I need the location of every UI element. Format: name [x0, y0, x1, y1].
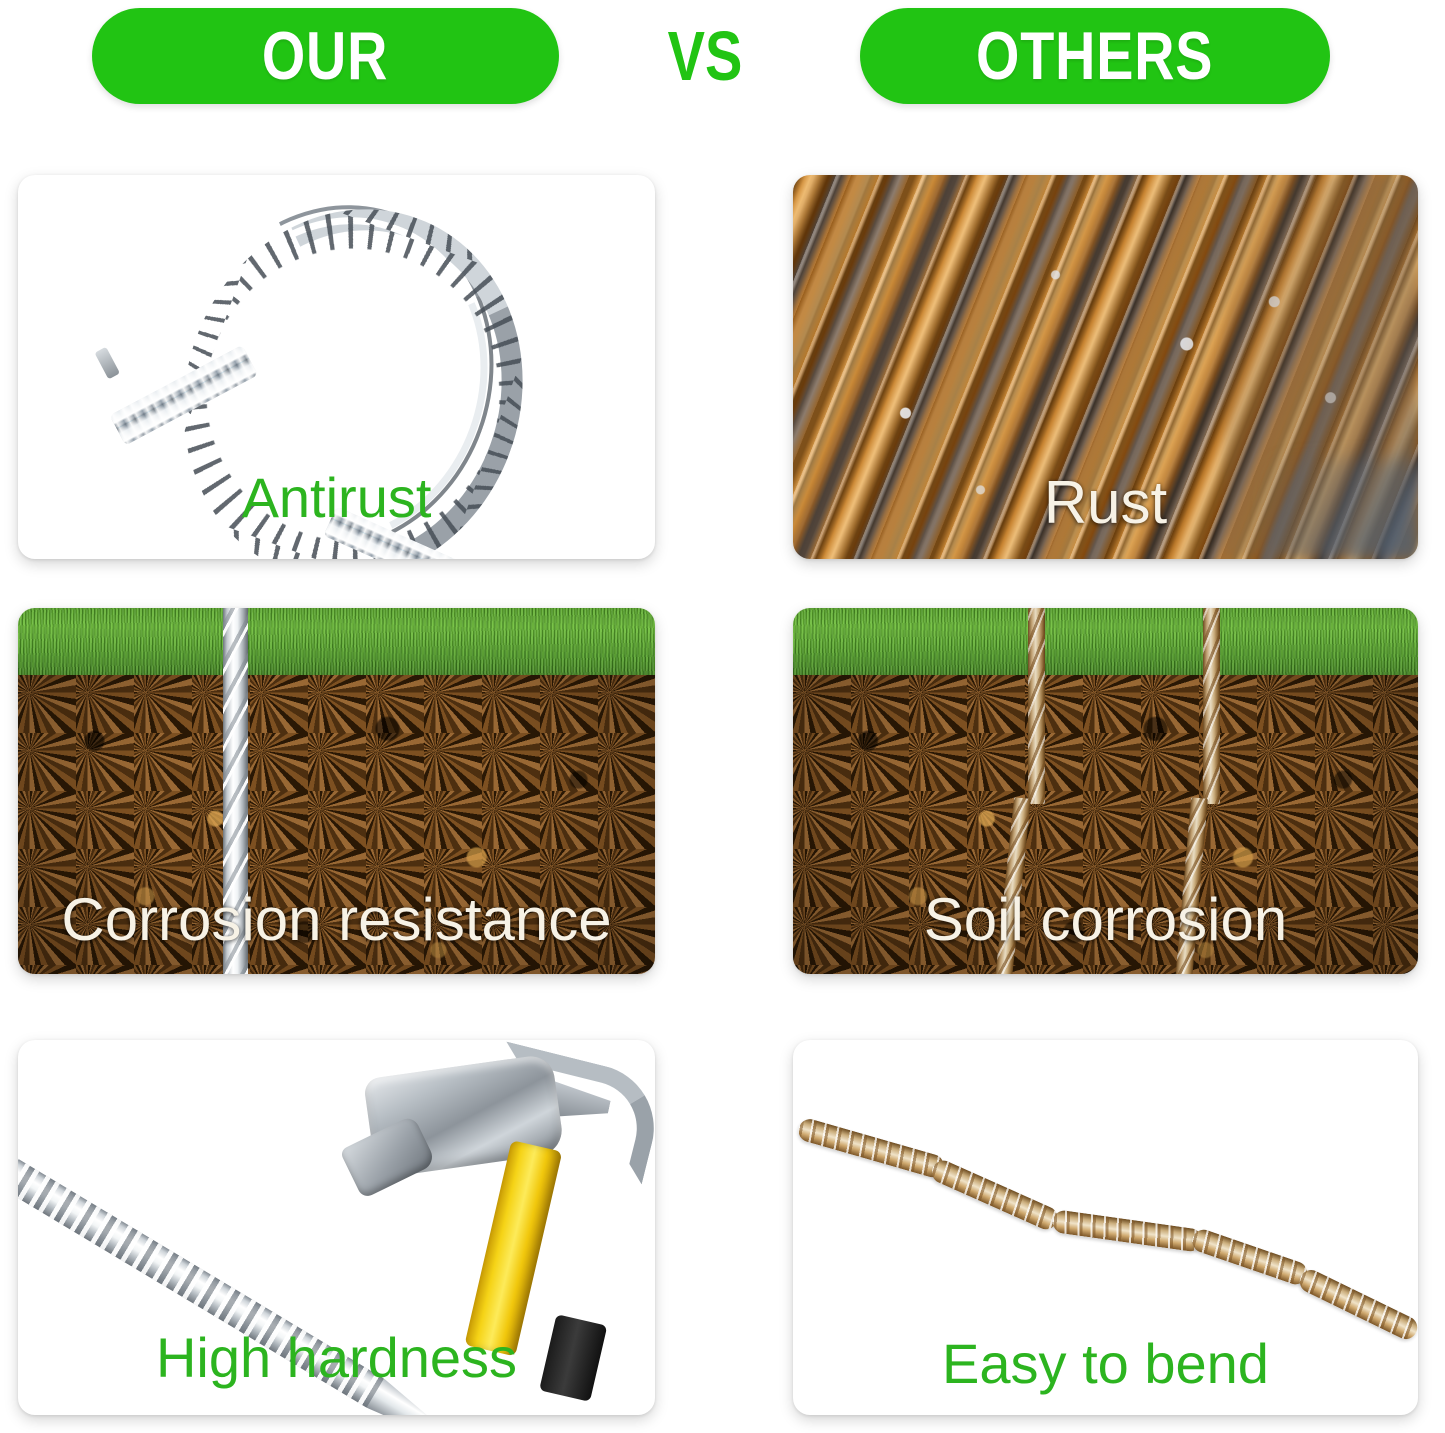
grass-layer [793, 608, 1418, 675]
caption-soil-corrosion: Soil corrosion [793, 890, 1418, 950]
caption-high-hardness: High hardness [18, 1330, 655, 1386]
caption-corrosion-resistance: Corrosion resistance [18, 890, 655, 950]
comparison-grid: Antirust Rust Corrosion resistance [0, 0, 1445, 1433]
caption-easy-to-bend: Easy to bend [793, 1336, 1418, 1392]
grass-layer [18, 608, 655, 675]
card-others-easy-to-bend: Easy to bend [793, 1040, 1418, 1415]
caption-rust: Rust [793, 473, 1418, 533]
card-ours-corrosion-resistance: Corrosion resistance [18, 608, 655, 974]
card-ours-high-hardness: High hardness [18, 1040, 655, 1415]
card-ours-antirust: Antirust [18, 175, 655, 559]
comparison-infographic: OUR VS OTHERS Antirust [0, 0, 1445, 1433]
caption-antirust: Antirust [18, 470, 655, 526]
card-others-rust: Rust [793, 175, 1418, 559]
card-others-soil-corrosion: Soil corrosion [793, 608, 1418, 974]
